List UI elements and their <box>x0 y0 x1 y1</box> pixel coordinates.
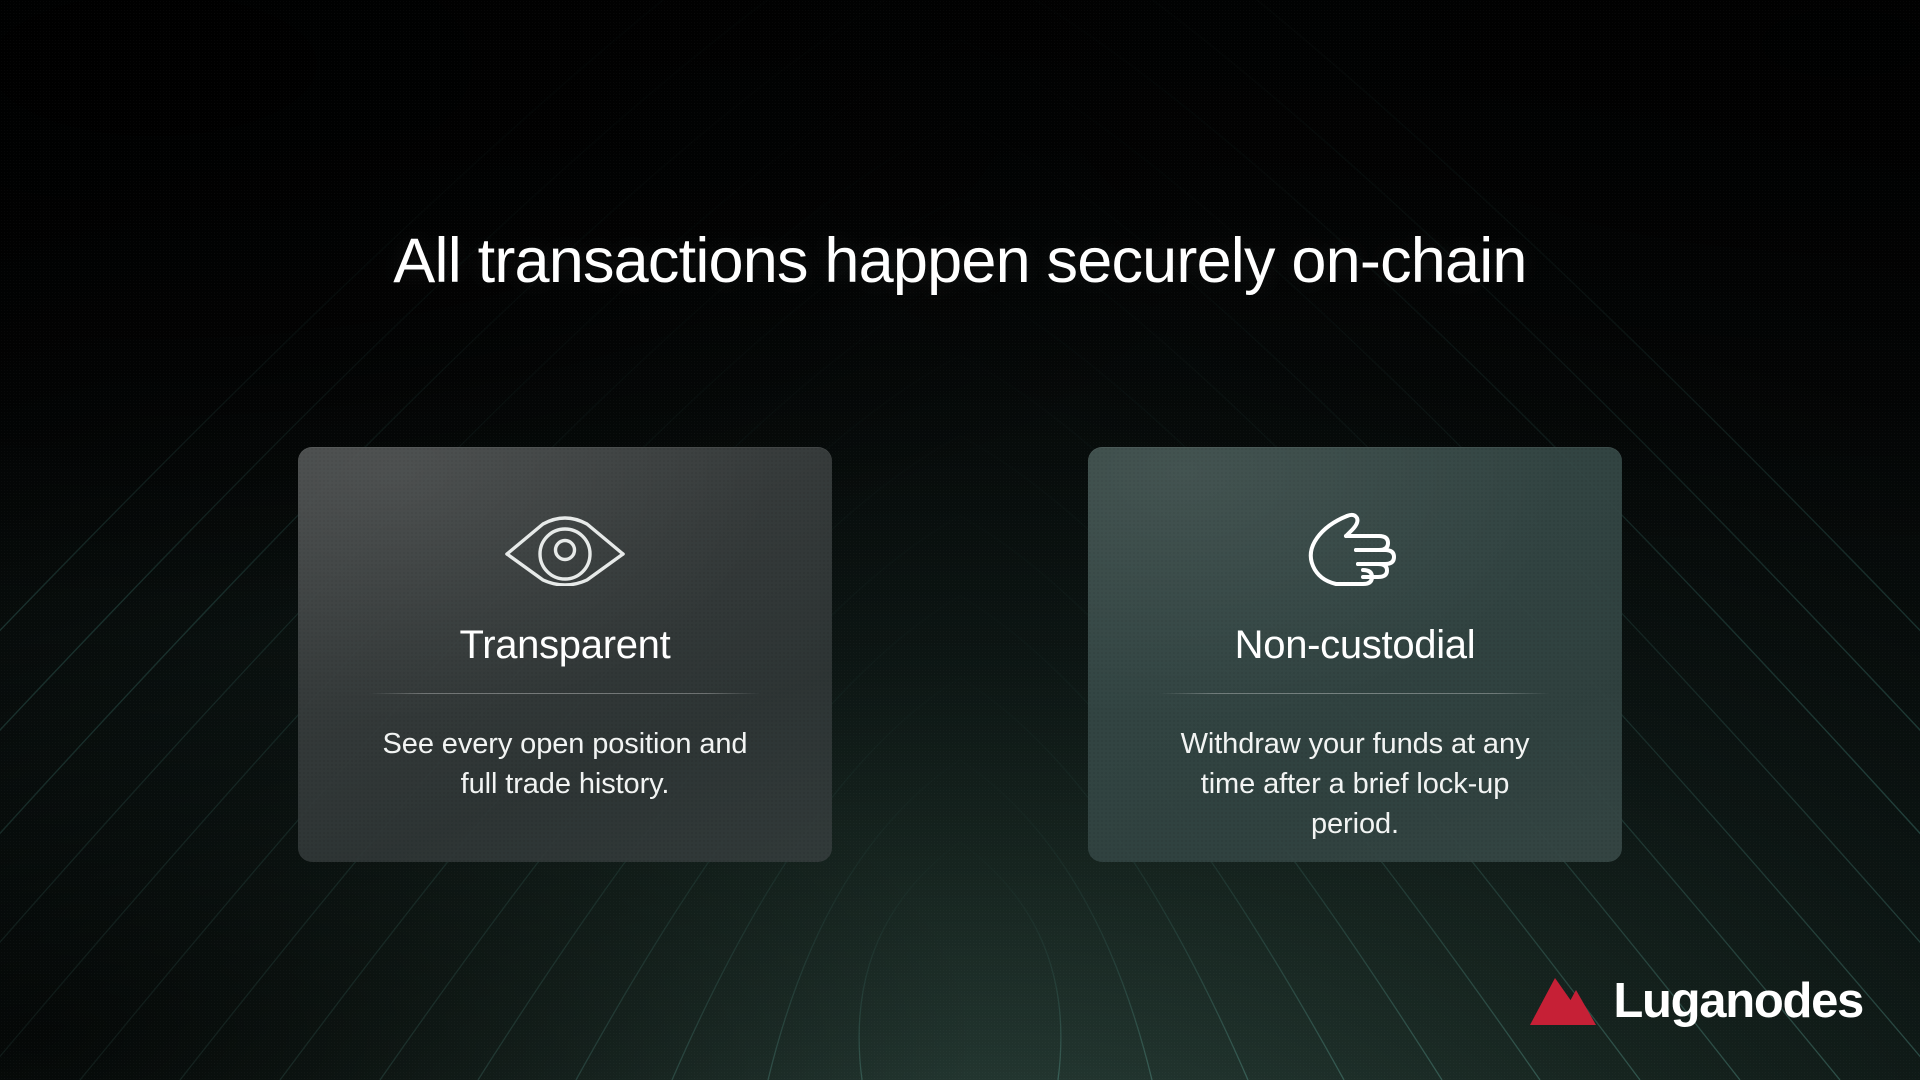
card-title: Transparent <box>460 623 671 667</box>
card-description: See every open position and full trade h… <box>365 724 765 804</box>
slide-root: All transactions happen securely on-chai… <box>0 0 1920 1080</box>
card-description: Withdraw your funds at any time after a … <box>1155 724 1555 844</box>
feature-card-transparent[interactable]: Transparent See every open position and … <box>298 447 832 862</box>
luganodes-logo[interactable]: Luganodes <box>1530 977 1863 1026</box>
card-title: Non-custodial <box>1235 623 1476 667</box>
luganodes-wordmark: Luganodes <box>1613 977 1863 1026</box>
page-title: All transactions happen securely on-chai… <box>0 228 1920 294</box>
luganodes-mountain-mark <box>1530 978 1596 1026</box>
hand-icon <box>1300 507 1410 593</box>
feature-card-list: Transparent See every open position and … <box>0 447 1920 862</box>
card-divider <box>369 693 761 694</box>
eye-icon <box>503 507 627 593</box>
feature-card-non-custodial[interactable]: Non-custodial Withdraw your funds at any… <box>1088 447 1622 862</box>
card-divider <box>1159 693 1551 694</box>
